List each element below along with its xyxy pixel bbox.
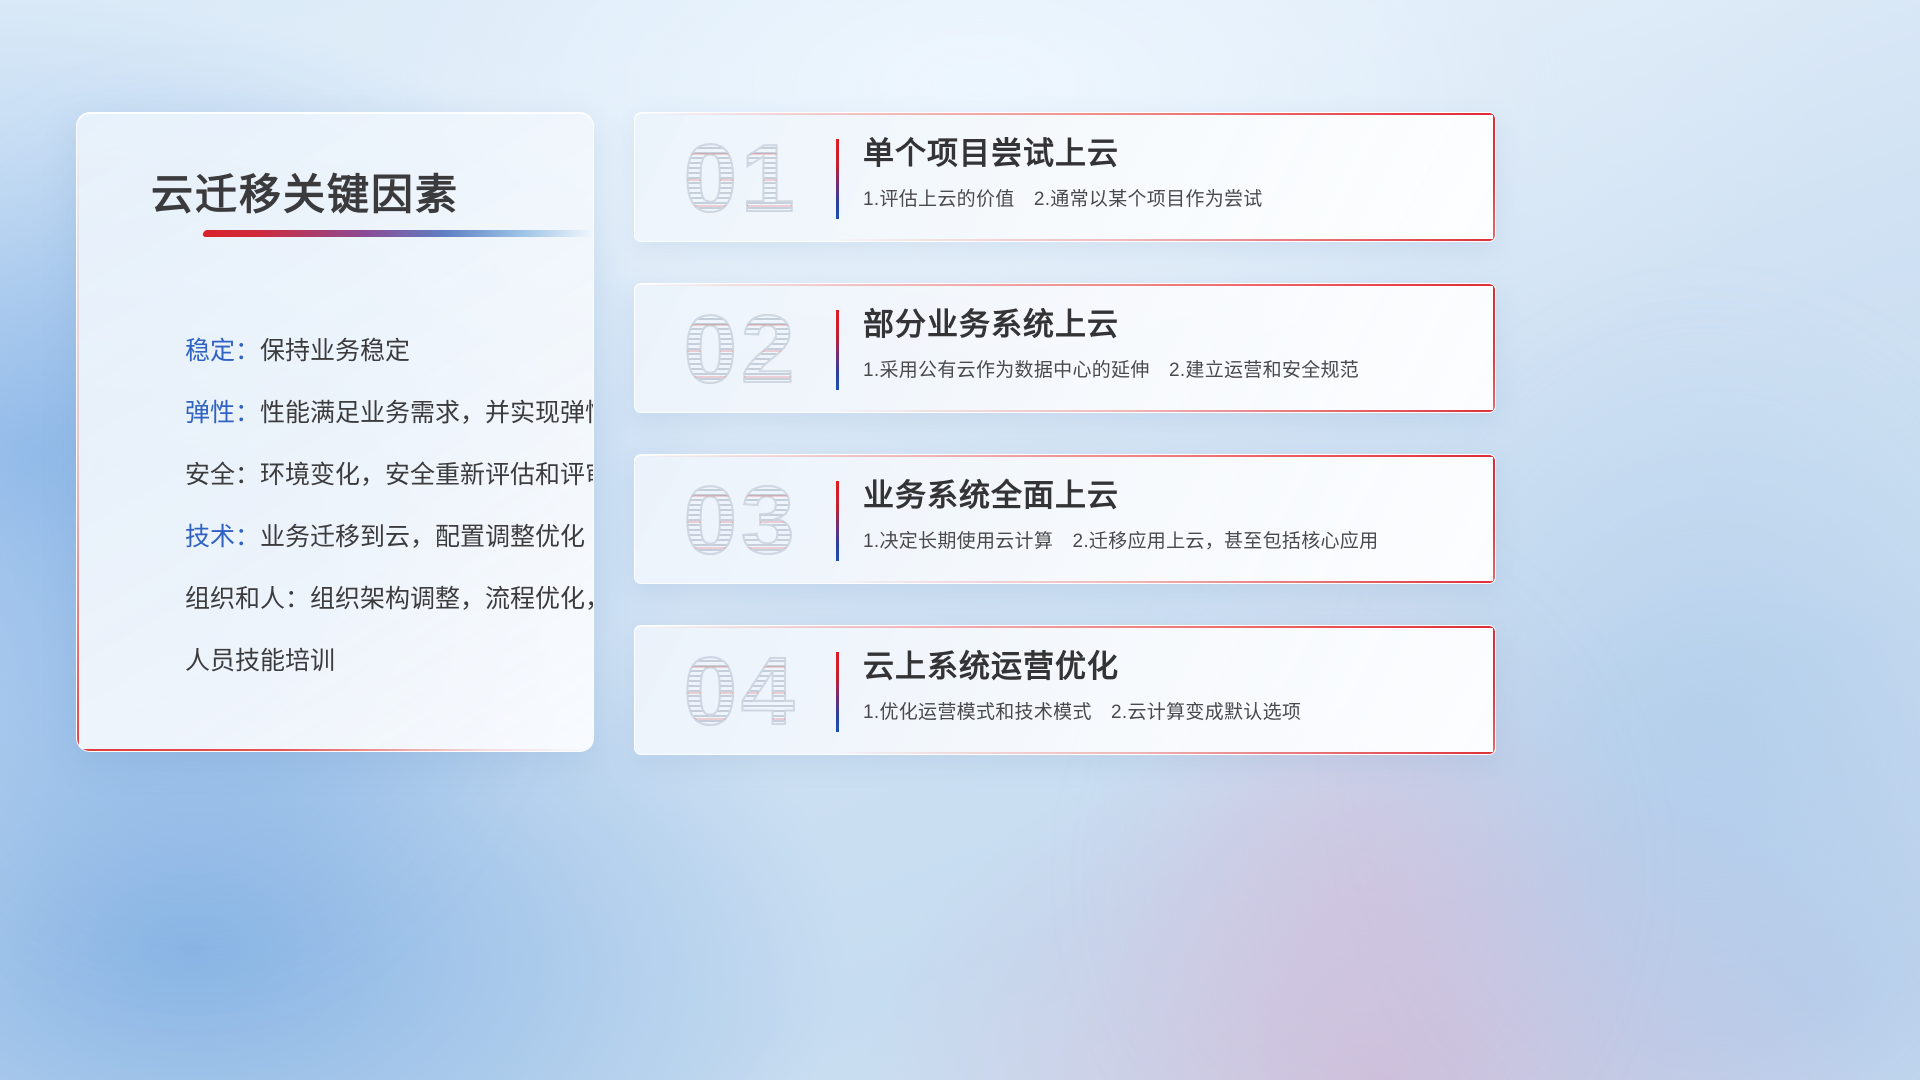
key-factor-text: 环境变化，安全重新评估和评审 [260, 461, 594, 489]
card-bottom-accent [824, 239, 1495, 241]
step-subtitle: 1.采用公有云作为数据中心的延伸 2.建立运营和安全规范 [863, 357, 1471, 385]
key-factor-item: 技术：业务迁移到云，配置调整优化 [185, 506, 567, 568]
step-title: 业务系统全面上云 [863, 473, 1471, 519]
key-factor-item: 人员技能培训 [185, 630, 567, 692]
migration-steps-list: 0101单个项目尝试上云1.评估上云的价值 2.通常以某个项目作为尝试0202部… [634, 112, 1496, 796]
key-factors-card: 云迁移关键因素 稳定：保持业务稳定弹性：性能满足业务需求，并实现弹性安全：环境变… [76, 112, 594, 752]
step-title: 单个项目尝试上云 [863, 131, 1471, 177]
key-factor-text: 性能满足业务需求，并实现弹性 [260, 399, 594, 427]
key-factor-text: 组织架构调整，流程优化， [310, 585, 594, 613]
card-bottom-accent [824, 581, 1495, 583]
key-factor-item: 稳定：保持业务稳定 [185, 320, 567, 382]
card-right-accent [1493, 455, 1495, 583]
card-right-accent [1493, 626, 1495, 754]
step-divider-accent [836, 310, 839, 390]
step-body: 单个项目尝试上云1.评估上云的价值 2.通常以某个项目作为尝试 [863, 131, 1471, 214]
step-divider-accent [836, 481, 839, 561]
migration-step-card[interactable]: 0404云上系统运营优化1.优化运营模式和技术模式 2.云计算变成默认选项 [634, 625, 1496, 755]
key-factor-label: 组织和人： [185, 585, 310, 613]
step-body: 部分业务系统上云1.采用公有云作为数据中心的延伸 2.建立运营和安全规范 [863, 302, 1471, 385]
step-number-watermark: 03 [657, 469, 825, 573]
title-underline-accent [202, 230, 594, 237]
step-divider-accent [836, 652, 839, 732]
key-factor-label: 技术： [185, 523, 260, 551]
key-factor-label: 稳定： [185, 337, 260, 365]
card-bottom-accent [824, 752, 1495, 754]
migration-step-card[interactable]: 0202部分业务系统上云1.采用公有云作为数据中心的延伸 2.建立运营和安全规范 [634, 283, 1496, 413]
migration-step-card[interactable]: 0101单个项目尝试上云1.评估上云的价值 2.通常以某个项目作为尝试 [634, 112, 1496, 242]
step-body: 业务系统全面上云1.决定长期使用云计算 2.迁移应用上云，甚至包括核心应用 [863, 473, 1471, 556]
key-factor-text: 业务迁移到云，配置调整优化 [260, 523, 585, 551]
card-right-accent [1493, 113, 1495, 241]
step-divider-accent [836, 139, 839, 219]
step-title: 部分业务系统上云 [863, 302, 1471, 348]
key-factor-text: 人员技能培训 [185, 647, 335, 675]
step-body: 云上系统运营优化1.优化运营模式和技术模式 2.云计算变成默认选项 [863, 644, 1471, 727]
step-title: 云上系统运营优化 [863, 644, 1471, 690]
card-top-accent [635, 626, 1495, 628]
key-factor-label: 弹性： [185, 399, 260, 427]
key-factors-list: 稳定：保持业务稳定弹性：性能满足业务需求，并实现弹性安全：环境变化，安全重新评估… [185, 320, 567, 692]
step-subtitle: 1.评估上云的价值 2.通常以某个项目作为尝试 [863, 186, 1471, 214]
step-number-watermark: 01 [657, 127, 825, 231]
key-factor-item: 组织和人：组织架构调整，流程优化， [185, 568, 567, 630]
card-top-accent [635, 284, 1495, 286]
card-bottom-accent [824, 410, 1495, 412]
step-number-watermark: 04 [657, 640, 825, 744]
key-factor-item: 安全：环境变化，安全重新评估和评审 [185, 444, 567, 506]
migration-step-card[interactable]: 0303业务系统全面上云1.决定长期使用云计算 2.迁移应用上云，甚至包括核心应… [634, 454, 1496, 584]
step-number-watermark: 02 [657, 298, 825, 402]
step-subtitle: 1.决定长期使用云计算 2.迁移应用上云，甚至包括核心应用 [863, 528, 1471, 556]
key-factor-text: 保持业务稳定 [260, 337, 410, 365]
page-title: 云迁移关键因素 [151, 161, 459, 222]
card-top-accent [635, 455, 1495, 457]
key-factor-label: 安全： [185, 461, 260, 489]
key-factor-item: 弹性：性能满足业务需求，并实现弹性 [185, 382, 567, 444]
card-right-accent [1493, 284, 1495, 412]
step-subtitle: 1.优化运营模式和技术模式 2.云计算变成默认选项 [863, 699, 1471, 727]
card-top-accent [635, 113, 1495, 115]
